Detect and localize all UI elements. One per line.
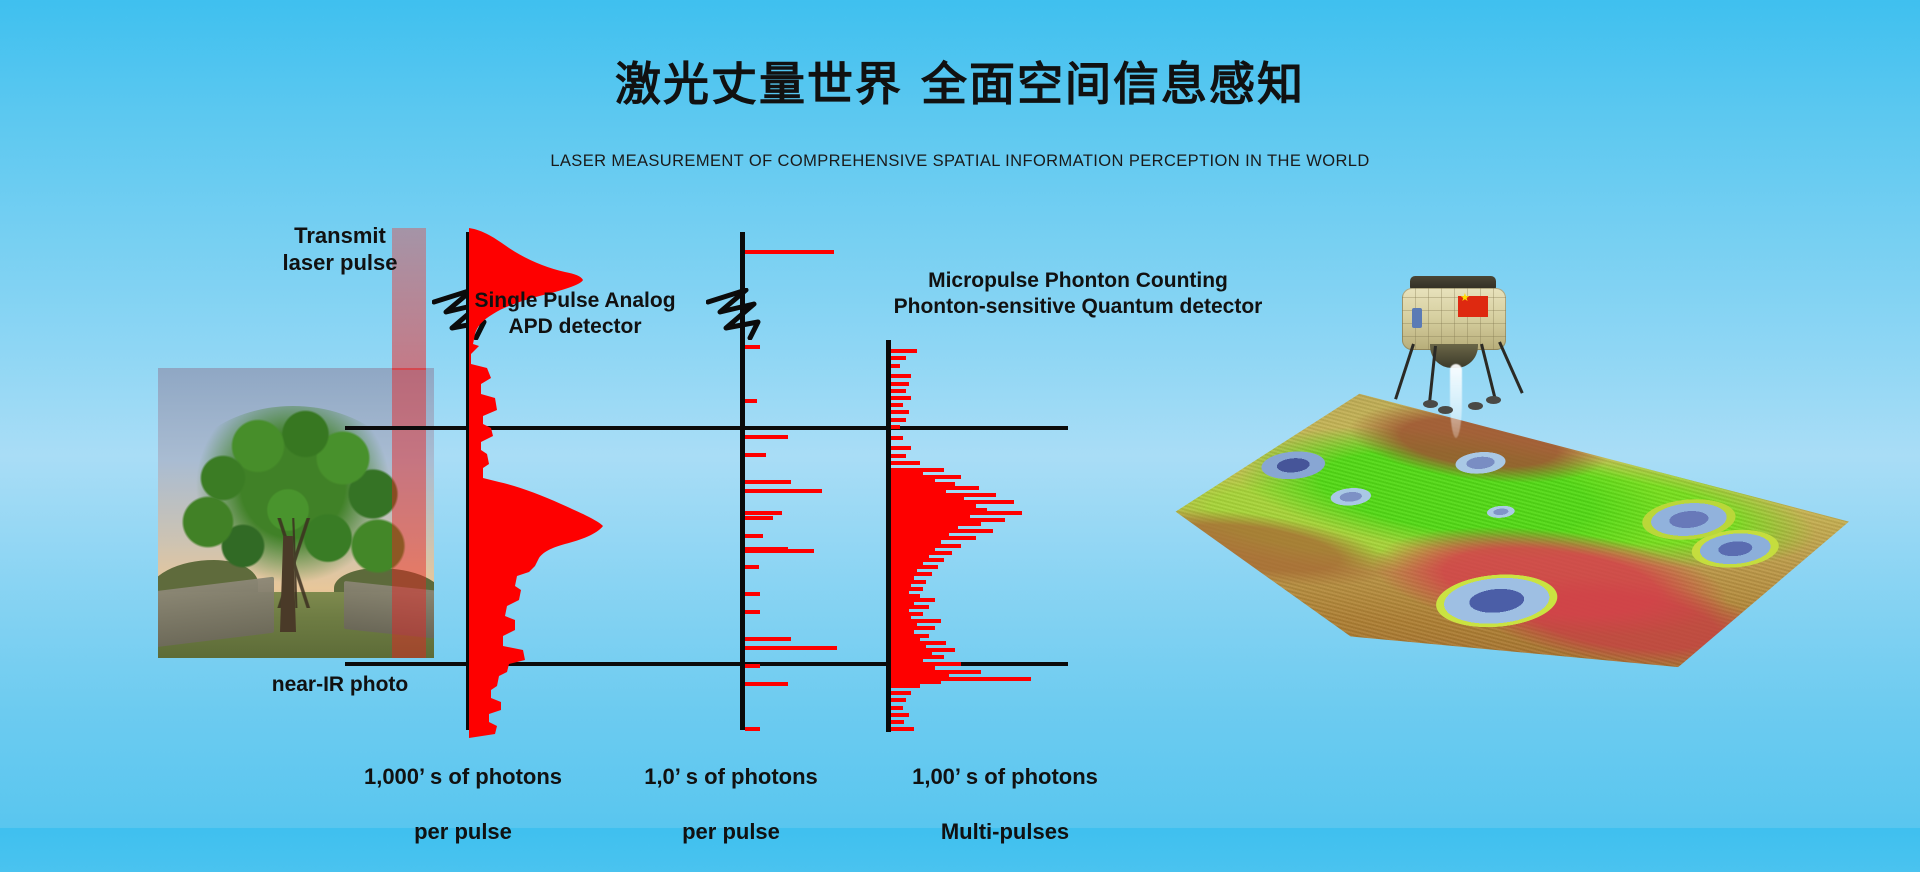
page-subtitle: LASER MEASUREMENT OF COMPREHENSIVE SPATI… [0,152,1920,171]
transmit-laser-pulse-label: Transmit laser pulse [240,222,440,277]
photon-bar [745,534,763,538]
lander-leg-4 [1498,341,1524,393]
banner-stage: 激光丈量世界 全面空间信息感知 LASER MEASUREMENT OF COM… [0,0,1920,828]
photon-bar [745,565,759,569]
panel1-footer: 1,000’ s of photons per pulse [338,736,588,872]
panel3-footer: 1,00’ s of photons Multi-pulses [880,736,1130,872]
photon-bar [891,349,917,353]
photon-bar [745,592,760,596]
terrain-surface [1082,385,1902,694]
photon-bar [891,436,903,440]
photon-bar [745,435,788,439]
photon-bar [891,425,900,429]
panel3-photon-histogram [891,342,1121,730]
panel2-footer: 1,0’ s of photons per pulse [606,736,856,872]
page-title: 激光丈量世界 全面空间信息感知 [0,48,1920,114]
photon-bar [745,511,782,515]
panel2-footer-line2: per pulse [606,818,856,845]
lander-leg-3 [1480,344,1497,403]
lander-foot-2 [1438,406,1453,414]
photon-bar [891,374,911,378]
photon-bar [891,684,920,688]
lander-foot-3 [1468,402,1483,410]
photon-bar [891,727,914,731]
near-ir-photo-label: near-IR photo [220,672,460,698]
micropulse-photon-counting-label: Micropulse Phonton Counting Phonton-sens… [878,268,1278,320]
photon-bar [745,516,773,520]
photon-bar [745,637,791,641]
lander-leg-1 [1394,344,1415,400]
photon-bar [891,364,900,368]
lander-leg-2 [1428,346,1437,408]
lander-instrument-panel [1412,308,1422,328]
photon-bar [891,389,906,393]
photon-bar [745,345,760,349]
photon-bar [891,446,911,450]
photon-bar [745,727,760,731]
lander-foot-4 [1486,396,1501,404]
lander-foot-1 [1423,400,1438,408]
panel3-footer-line2: Multi-pulses [880,818,1130,845]
photon-bar [891,698,906,702]
photon-bar [745,664,760,668]
photon-bar [891,403,903,407]
single-pulse-analog-label: Single Pulse Analog APD detector [430,288,720,340]
photon-bar [745,610,760,614]
photon-bar [891,454,906,458]
panel2-footer-line1: 1,0’ s of photons [606,763,856,790]
lunar-lander-icon [1388,282,1520,422]
photon-bar [891,410,909,414]
china-flag-icon [1458,296,1488,317]
photon-bar [891,706,903,710]
laser-beam-icon [392,368,426,658]
photon-bar [891,356,906,360]
photon-bar [891,720,904,724]
photon-bar [891,713,909,717]
photon-bar [745,480,791,484]
near-ir-tree-photo [158,368,434,658]
photon-bar [891,396,911,400]
photon-bar [745,250,834,254]
photon-bar [891,691,911,695]
photon-bar [745,549,814,553]
photon-bar [745,399,757,403]
photon-bar [891,461,920,465]
3d-terrain-mesh [1212,330,1772,750]
panel1-footer-line1: 1,000’ s of photons [338,763,588,790]
photon-bar [745,489,822,493]
photon-bar [891,418,906,422]
photon-bar [745,453,766,457]
lander-engine-plume [1450,364,1462,438]
photon-bar [745,646,837,650]
photon-bar [891,382,909,386]
panel1-footer-line2: per pulse [338,818,588,845]
photo-tree-branches [220,518,370,608]
photon-bar [745,682,788,686]
panel3-footer-line1: 1,00’ s of photons [880,763,1130,790]
